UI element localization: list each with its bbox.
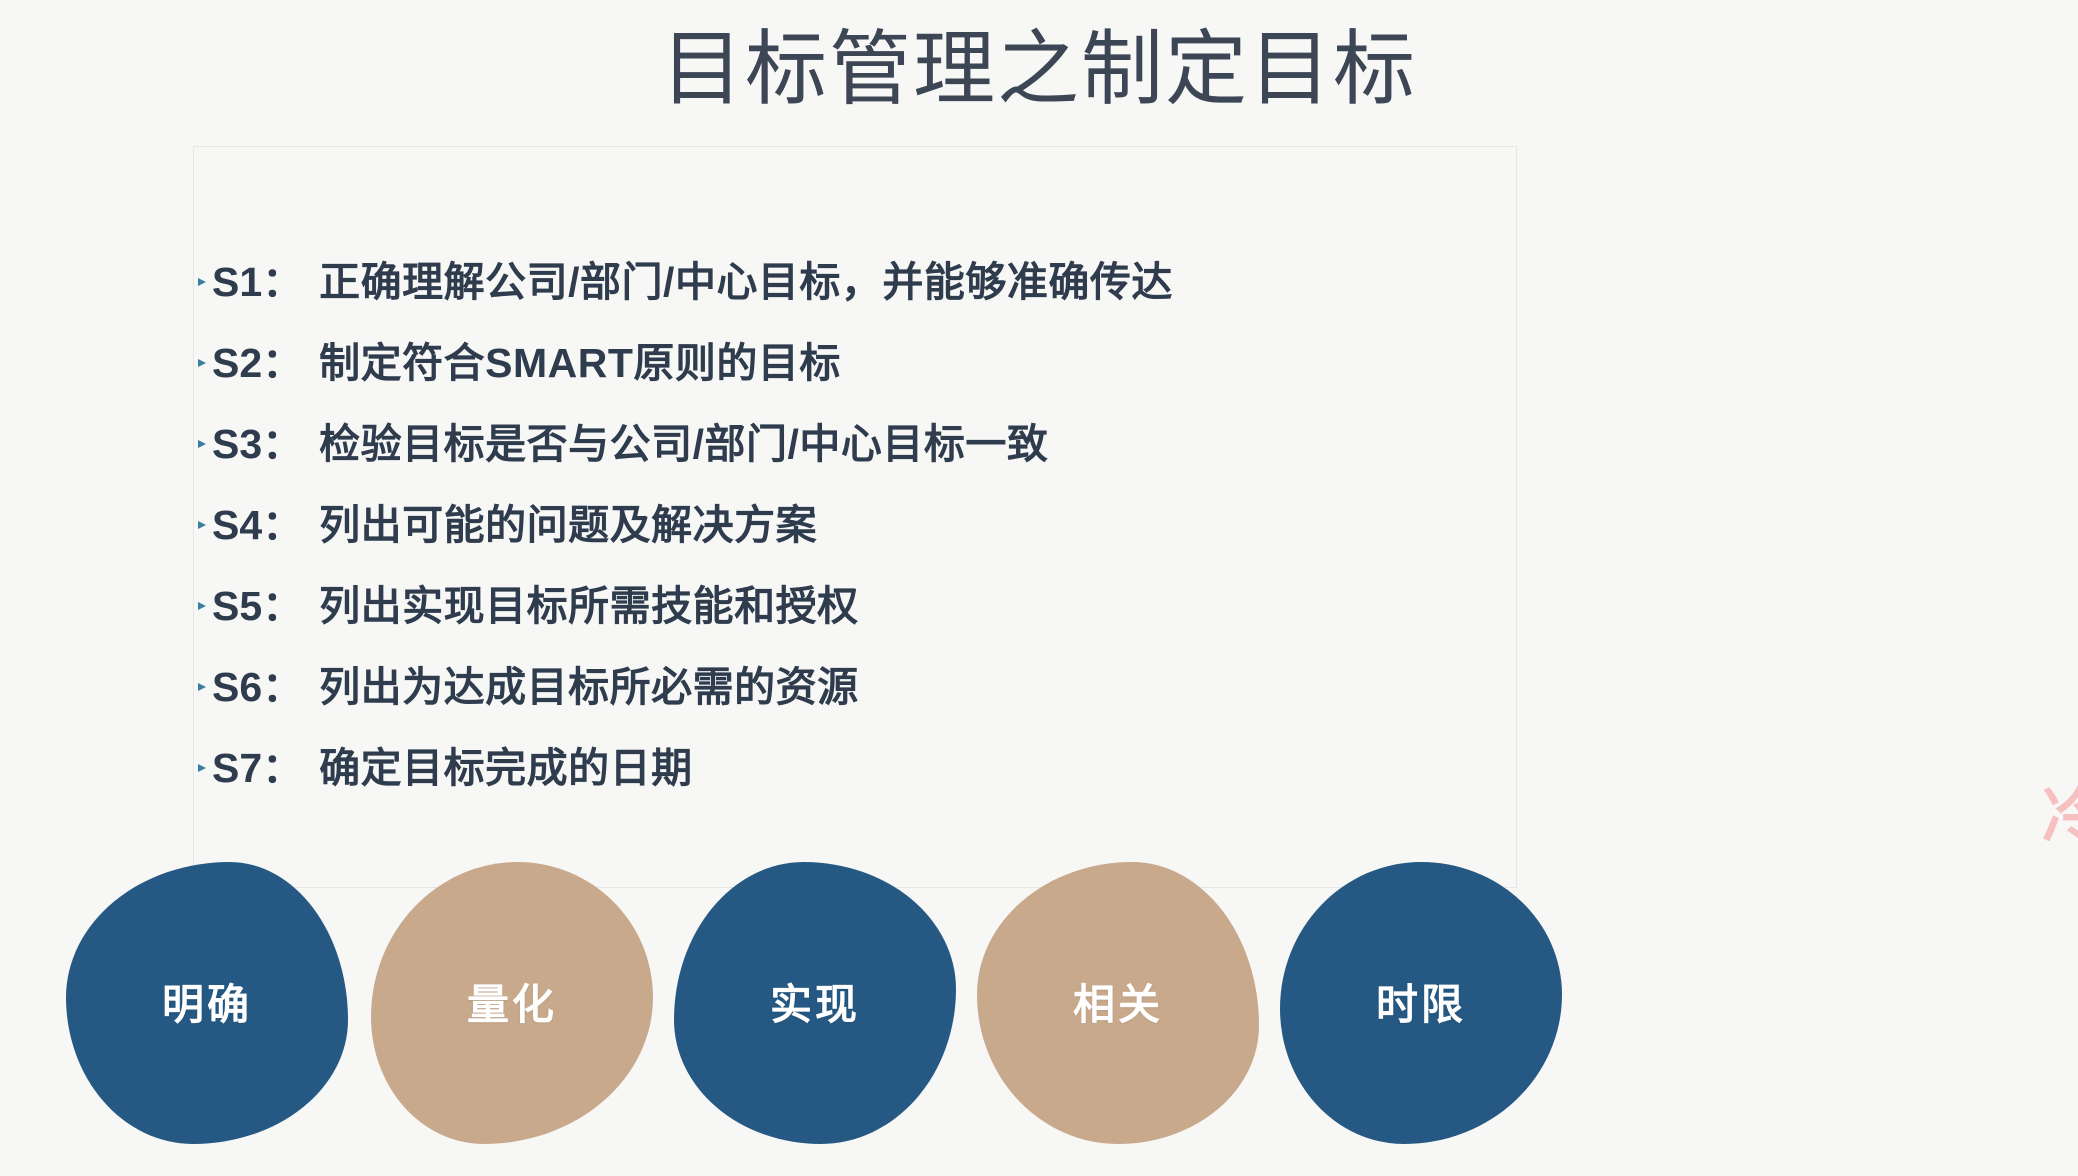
triangle-right-icon — [196, 762, 212, 774]
list-item: S3： 检验目标是否与公司/部门/中心目标一致 — [196, 410, 1516, 491]
smart-blob-label: 量化 — [467, 971, 557, 1032]
smart-blob-specific: 明确 — [66, 862, 348, 1144]
triangle-right-icon — [196, 519, 212, 531]
list-item: S5： 列出实现目标所需技能和授权 — [196, 572, 1516, 653]
triangle-right-icon — [196, 681, 212, 693]
smart-blob-row: 明确 量化 实现 相关 时限 — [0, 862, 2078, 1176]
triangle-right-icon — [196, 276, 212, 288]
smart-blob-label: 时限 — [1376, 971, 1466, 1032]
list-item: S1： 正确理解公司/部门/中心目标，并能够准确传达 — [196, 248, 1516, 329]
smart-blob-attainable: 实现 — [674, 862, 956, 1144]
triangle-right-icon — [196, 600, 212, 612]
edge-watermark: 冷 — [2042, 766, 2078, 856]
step-text: 制定符合SMART原则的目标 — [319, 329, 841, 389]
step-code: S6： — [212, 653, 303, 713]
smart-blob-relevant: 相关 — [977, 862, 1259, 1144]
step-code: S2： — [212, 329, 303, 389]
step-code: S4： — [212, 491, 303, 551]
page-title: 目标管理之制定目标 — [0, 24, 2078, 116]
list-item: S2： 制定符合SMART原则的目标 — [196, 329, 1516, 410]
step-text: 确定目标完成的日期 — [319, 734, 693, 794]
smart-blob-measurable: 量化 — [371, 862, 653, 1144]
step-text: 检验目标是否与公司/部门/中心目标一致 — [319, 410, 1048, 470]
step-list: S1： 正确理解公司/部门/中心目标，并能够准确传达 S2： 制定符合SMART… — [196, 248, 1516, 815]
list-item: S7： 确定目标完成的日期 — [196, 734, 1516, 815]
step-code: S5： — [212, 572, 303, 632]
triangle-right-icon — [196, 357, 212, 369]
smart-blob-label: 实现 — [770, 971, 860, 1032]
step-text: 列出实现目标所需技能和授权 — [319, 572, 859, 632]
step-text: 列出可能的问题及解决方案 — [319, 491, 817, 551]
list-item: S4： 列出可能的问题及解决方案 — [196, 491, 1516, 572]
smart-blob-timebound: 时限 — [1280, 862, 1562, 1144]
step-code: S1： — [212, 248, 303, 308]
smart-blob-label: 明确 — [162, 971, 252, 1032]
step-code: S7： — [212, 734, 303, 794]
list-item: S6： 列出为达成目标所必需的资源 — [196, 653, 1516, 734]
triangle-right-icon — [196, 438, 212, 450]
slide-canvas: 目标管理之制定目标 S1： 正确理解公司/部门/中心目标，并能够准确传达 S2：… — [0, 0, 2078, 1176]
smart-blob-label: 相关 — [1073, 971, 1163, 1032]
step-code: S3： — [212, 410, 303, 470]
step-text: 正确理解公司/部门/中心目标，并能够准确传达 — [319, 248, 1173, 308]
step-text: 列出为达成目标所必需的资源 — [319, 653, 859, 713]
